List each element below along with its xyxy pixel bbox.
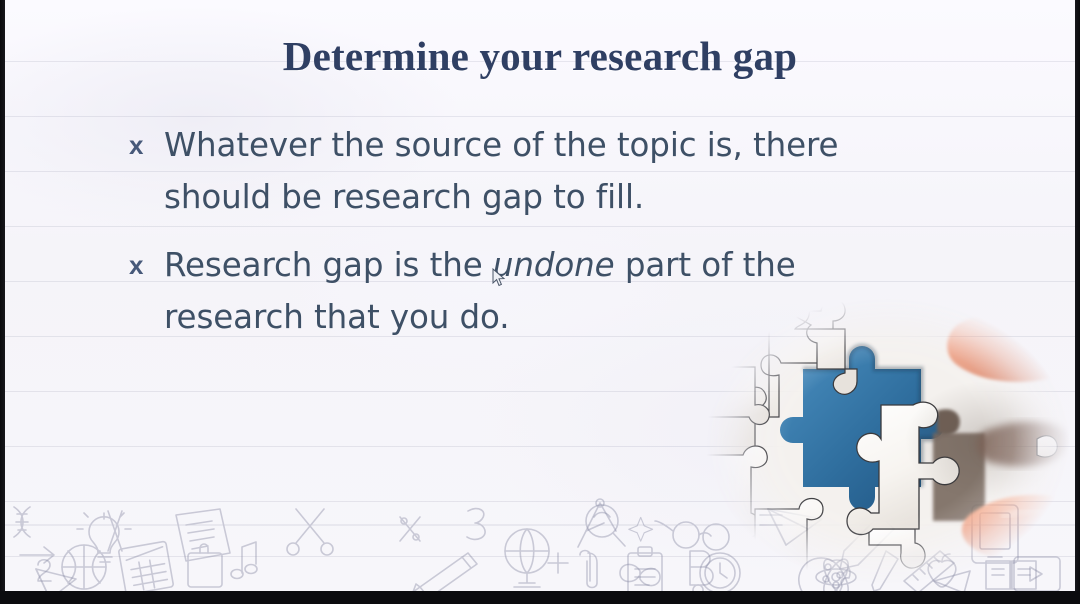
slide-title: Determine your research gap xyxy=(0,32,1080,80)
frame-edge-left xyxy=(0,0,5,604)
bullet-marker-x-icon: x xyxy=(126,239,164,291)
bullet-text-2: Research gap is the undone part of the r… xyxy=(164,239,886,343)
bullet-list: x Whatever the source of the topic is, t… xyxy=(126,119,886,359)
bullet-item-2: x Research gap is the undone part of the… xyxy=(126,239,886,343)
bullet-marker-x-icon: x xyxy=(126,119,164,171)
mouse-pointer xyxy=(492,268,506,288)
bullet-2-emphasis: undone xyxy=(493,246,615,284)
bullet-text-1: Whatever the source of the topic is, the… xyxy=(164,119,886,223)
bullet-2-pre: Research gap is the xyxy=(164,246,493,284)
presentation-slide: Determine your research gap x Whatever t… xyxy=(0,0,1080,604)
bullet-1-pre: Whatever the source of the topic is, the… xyxy=(164,126,838,216)
frame-edge-bottom xyxy=(0,591,1080,604)
bullet-item-1: x Whatever the source of the topic is, t… xyxy=(126,119,886,223)
frame-edge-right xyxy=(1075,0,1080,604)
